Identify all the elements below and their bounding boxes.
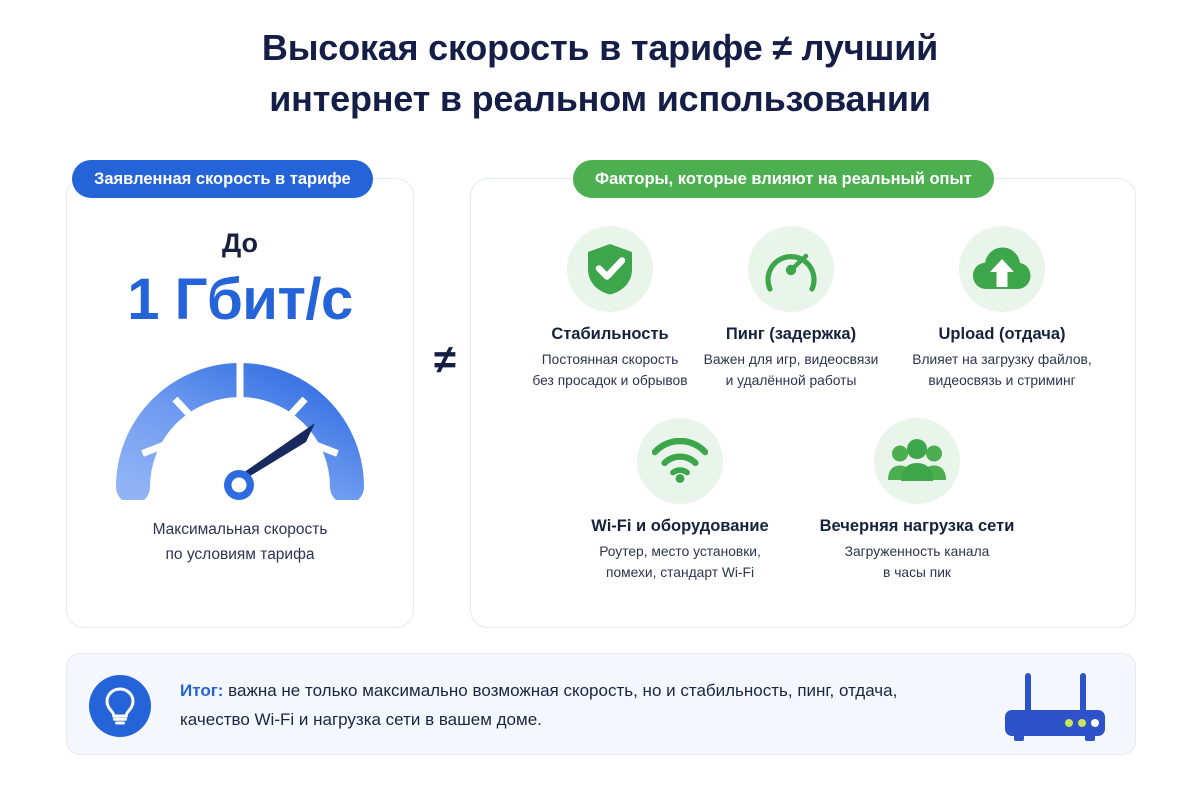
shield-check-icon — [585, 242, 635, 296]
factor-desc: Роутер, место установки, помехи, стандар… — [574, 542, 786, 584]
factor-title: Пинг (задержка) — [685, 325, 897, 344]
lightbulb-icon-circle — [89, 675, 151, 737]
cloud-upload-icon — [972, 245, 1032, 293]
summary-body: важна не только максимально возможная ск… — [180, 681, 897, 729]
not-equal-symbol: ≠ — [415, 338, 475, 383]
factor-desc-line-1: Важен для игр, видеосвязи — [685, 350, 897, 371]
factor-desc-line-2: и удалённой работы — [685, 371, 897, 392]
factor-title: Upload (отдача) — [896, 325, 1108, 344]
page-title: Высокая скорость в тарифе ≠ лучший интер… — [0, 22, 1200, 124]
people-group-icon-circle — [874, 418, 960, 504]
factor-desc-line-1: Влияет на загрузку файлов, — [896, 350, 1108, 371]
page-title-line-1: Высокая скорость в тарифе ≠ лучший — [0, 22, 1200, 73]
gauge-caption-line-2: по условиям тарифа — [66, 543, 414, 568]
speed-prefix-label: До — [66, 228, 414, 259]
wifi-router-icon — [995, 672, 1113, 748]
factor-title: Wi-Fi и оборудование — [574, 517, 786, 536]
factors-pill-label: Факторы, которые влияют на реальный опыт — [573, 160, 994, 198]
wifi-icon-circle — [637, 418, 723, 504]
speedometer-icon-circle — [748, 226, 834, 312]
gauge-caption-line-1: Максимальная скорость — [66, 518, 414, 543]
factor-desc-line-1: Загруженность канала — [811, 542, 1023, 563]
factor-desc: Влияет на загрузку файлов, видеосвязь и … — [896, 350, 1108, 392]
factor-wifi-equipment: Wi-Fi и оборудование Роутер, место устан… — [574, 418, 786, 584]
page-title-line-2: интернет в реальном использовании — [0, 73, 1200, 124]
summary-lead: Итог: — [180, 681, 223, 700]
factor-upload: Upload (отдача) Влияет на загрузку файло… — [896, 226, 1108, 392]
shield-check-icon-circle — [567, 226, 653, 312]
factor-title: Вечерняя нагрузка сети — [811, 517, 1023, 536]
factor-desc: Важен для игр, видеосвязи и удалённой ра… — [685, 350, 897, 392]
wifi-icon — [652, 438, 708, 484]
factor-desc-line-2: помехи, стандарт Wi-Fi — [574, 563, 786, 584]
factor-evening-load: Вечерняя нагрузка сети Загруженность кан… — [811, 418, 1023, 584]
factor-desc-line-2: в часы пик — [811, 563, 1023, 584]
lightbulb-icon — [103, 686, 137, 726]
factor-desc: Загруженность канала в часы пик — [811, 542, 1023, 584]
factor-desc-line-2: видеосвязь и стриминг — [896, 371, 1108, 392]
speed-value: 1 Гбит/с — [66, 266, 414, 333]
people-group-icon — [888, 439, 946, 483]
speedometer-gauge — [115, 355, 365, 500]
speedometer-icon — [763, 243, 819, 295]
cloud-upload-icon-circle — [959, 226, 1045, 312]
factor-desc-line-1: Роутер, место установки, — [574, 542, 786, 563]
summary-text: Итог: важна не только максимально возмож… — [180, 676, 970, 734]
factor-ping: Пинг (задержка) Важен для игр, видеосвяз… — [685, 226, 897, 392]
declared-speed-pill-label: Заявленная скорость в тарифе — [72, 160, 373, 198]
gauge-caption: Максимальная скорость по условиям тарифа — [66, 518, 414, 568]
